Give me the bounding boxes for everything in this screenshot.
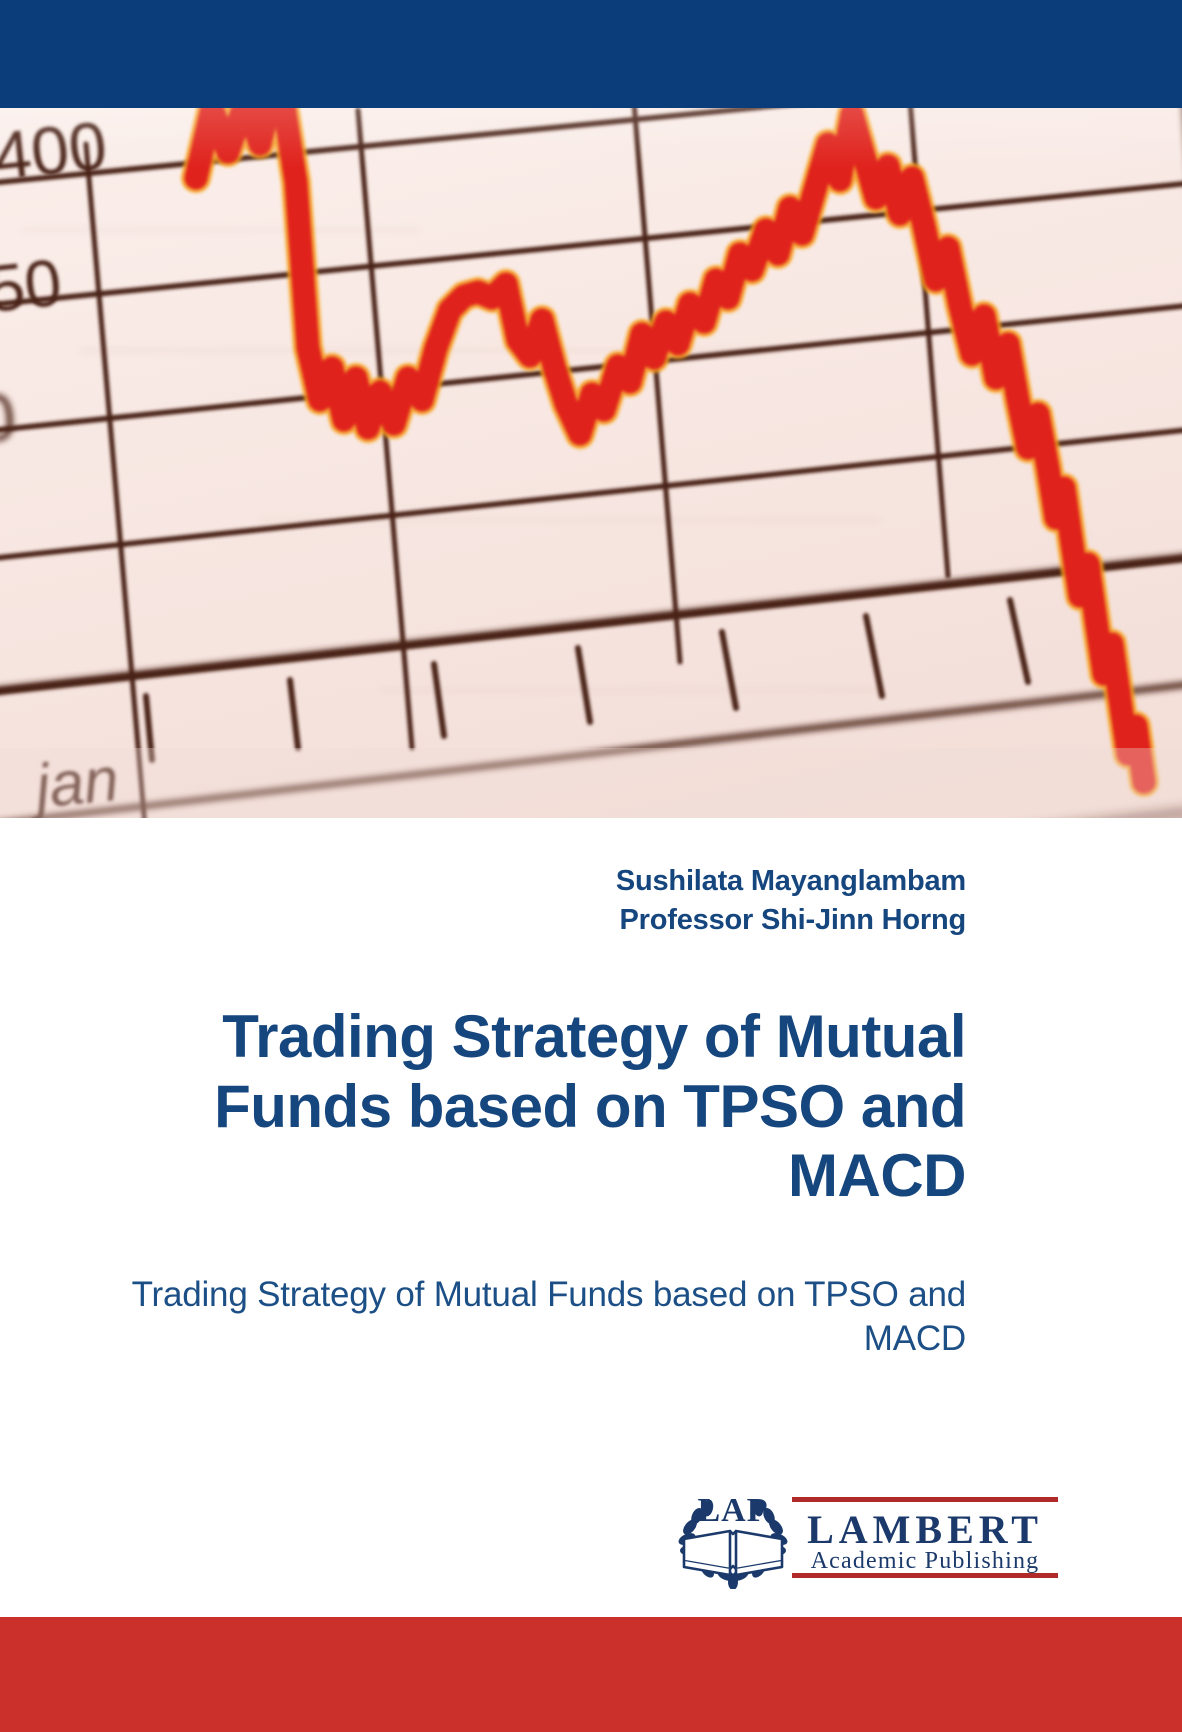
book-subtitle: Trading Strategy of Mutual Funds based o…: [100, 1273, 966, 1362]
publisher-name: LAMBERT: [807, 1507, 1043, 1552]
book-cover: 400 350 300 jan Sushilata Mayanglambam: [0, 0, 1182, 1732]
publisher-logo: LAP LAMBERT Academic Publishing: [672, 1481, 1062, 1589]
laurel-wreath-open-book-icon: LAP: [677, 1492, 790, 1589]
author-block: Sushilata Mayanglambam Professor Shi-Jin…: [120, 862, 966, 939]
top-navy-band: [0, 0, 1182, 108]
cover-photo: 400 350 300 jan: [0, 108, 1182, 818]
book-title: Trading Strategy of Mutual Funds based o…: [120, 1002, 966, 1211]
bottom-red-band: [0, 1617, 1182, 1732]
stock-chart-illustration: 400 350 300 jan: [0, 108, 1182, 818]
author-name-secondary: Professor Shi-Jinn Horng: [120, 901, 966, 940]
cover-photo-chart-image: 400 350 300 jan: [0, 108, 1182, 818]
ytick-350: 350: [0, 245, 65, 330]
publisher-tagline: Academic Publishing: [811, 1548, 1040, 1574]
author-name-primary: Sushilata Mayanglambam: [120, 862, 966, 901]
publisher-emblem-text: LAP: [698, 1492, 769, 1529]
logo-rule-top: [792, 1497, 1058, 1502]
